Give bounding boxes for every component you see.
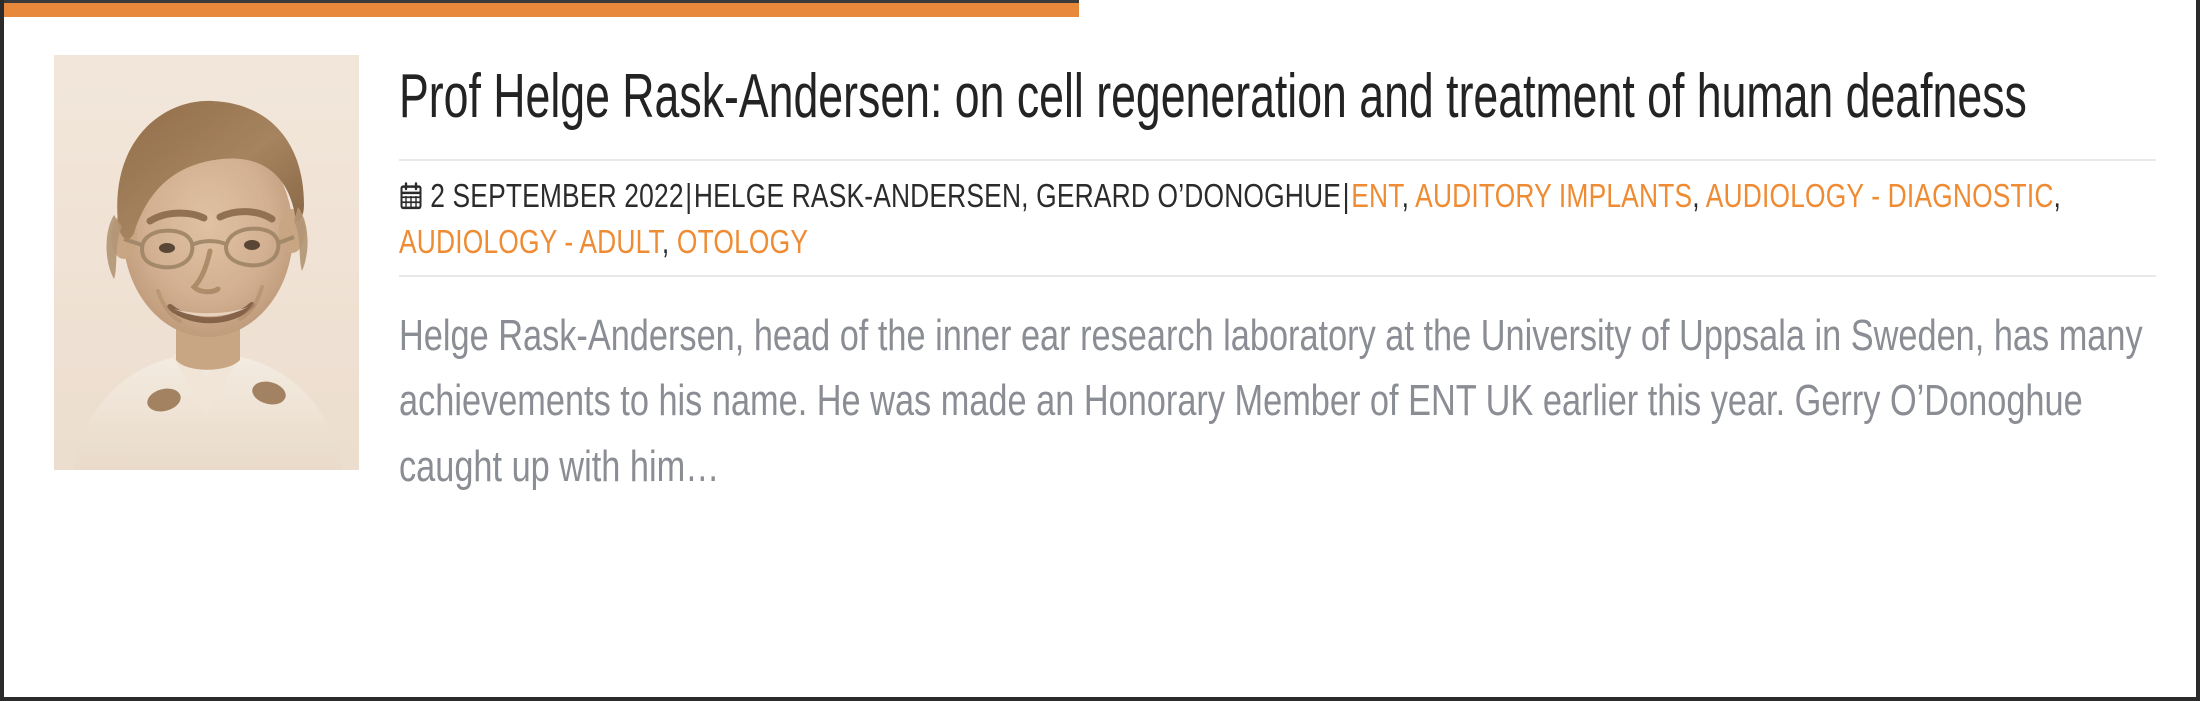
category-comma-1: ,	[1692, 177, 1700, 214]
article-title-link[interactable]: Prof Helge Rask-Andersen: on cell regene…	[399, 61, 2157, 133]
category-link-audiology-adult[interactable]: AUDIOLOGY - ADULT	[399, 223, 662, 260]
article-thumbnail-link[interactable]	[54, 55, 359, 470]
meta-authors: HELGE RASK-ANDERSEN, GERARD O’DONOGHUE	[694, 177, 1341, 214]
category-comma-3: ,	[662, 223, 670, 260]
category-link-auditory-implants[interactable]: AUDITORY IMPLANTS	[1415, 177, 1692, 214]
category-link-ent[interactable]: ENT	[1351, 177, 1401, 214]
article-meta: 2 SEPTEMBER 2022|HELGE RASK-ANDERSEN, GE…	[399, 161, 2156, 275]
meta-date: 2 SEPTEMBER 2022	[430, 177, 683, 214]
category-comma-2: ,	[2054, 177, 2062, 214]
accent-top-bar-edge	[4, 0, 1079, 3]
meta-separator-2: |	[1341, 177, 1351, 214]
article-card[interactable]: Prof Helge Rask-Andersen: on cell regene…	[54, 55, 2156, 499]
category-link-audiology-diagnostic[interactable]: AUDIOLOGY - DIAGNOSTIC	[1706, 177, 2054, 214]
calendar-icon	[399, 179, 423, 221]
meta-separator-1: |	[684, 177, 694, 214]
category-link-otology[interactable]: OTOLOGY	[677, 223, 808, 260]
accent-top-bar	[4, 0, 1079, 17]
category-comma-0: ,	[1402, 177, 1410, 214]
article-excerpt: Helge Rask-Andersen, head of the inner e…	[399, 277, 2153, 498]
portrait-photo-icon	[54, 55, 359, 470]
article-thumbnail	[54, 55, 359, 470]
article-card-screen: Prof Helge Rask-Andersen: on cell regene…	[0, 0, 2200, 701]
article-content: Prof Helge Rask-Andersen: on cell regene…	[399, 55, 2156, 499]
